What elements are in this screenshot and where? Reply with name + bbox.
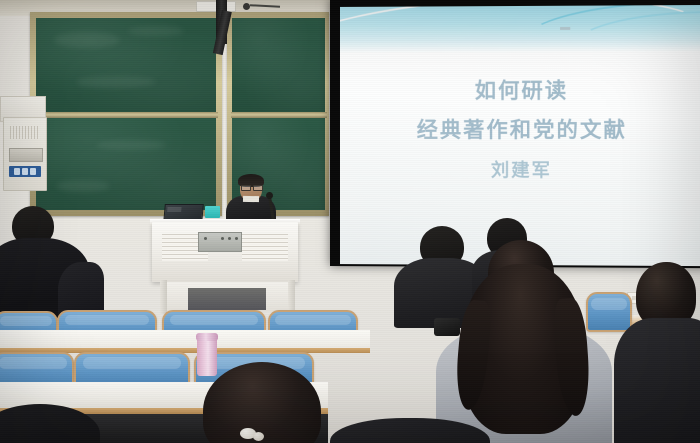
control-button-1[interactable]: [14, 168, 20, 175]
slide-text-block: 如何研读 经典著作和党的文献 刘建军: [340, 80, 700, 181]
thermos-cup: [197, 336, 217, 376]
control-panel-grill: [10, 126, 40, 139]
podium-lower-panel: [188, 288, 266, 310]
camera-strap: [434, 318, 460, 336]
blackboard-panel-upper-right: [232, 18, 325, 112]
ceiling-mount-knob: [243, 3, 250, 10]
hair-ornament-2: [253, 432, 264, 441]
thermos-cap: [196, 333, 218, 341]
speaker-collar: [243, 196, 259, 202]
podium-leg-left: [160, 280, 167, 314]
microphone-head: [266, 192, 273, 199]
laptop-screen-glare: [167, 207, 181, 212]
torso: [614, 318, 700, 443]
podium: [152, 222, 298, 282]
teal-object-on-podium: [205, 206, 220, 218]
slide-title-line-2: 经典著作和党的文献: [340, 120, 700, 142]
slide-author: 刘建军: [340, 161, 700, 181]
slide-title-line-1: 如何研读: [340, 80, 700, 103]
podium-control-plate[interactable]: [198, 232, 242, 252]
control-button-3[interactable]: [30, 168, 36, 175]
control-button-2[interactable]: [22, 168, 28, 175]
speaker-glasses: [241, 185, 261, 189]
wall-control-panel[interactable]: [3, 117, 47, 191]
podium-vent-right: [242, 234, 288, 261]
podium-leg-right: [288, 280, 295, 314]
lecture-hall-photo: 如何研读 经典著作和党的文献 刘建军: [0, 0, 700, 443]
control-panel-display: [9, 148, 43, 162]
slide-artifact: [560, 27, 570, 30]
control-panel-buttons[interactable]: [9, 166, 41, 177]
blackboard-panel-lower-left: [36, 118, 216, 210]
blackboard-panel-upper-left: [36, 18, 216, 112]
far-chair-right: [586, 292, 632, 332]
